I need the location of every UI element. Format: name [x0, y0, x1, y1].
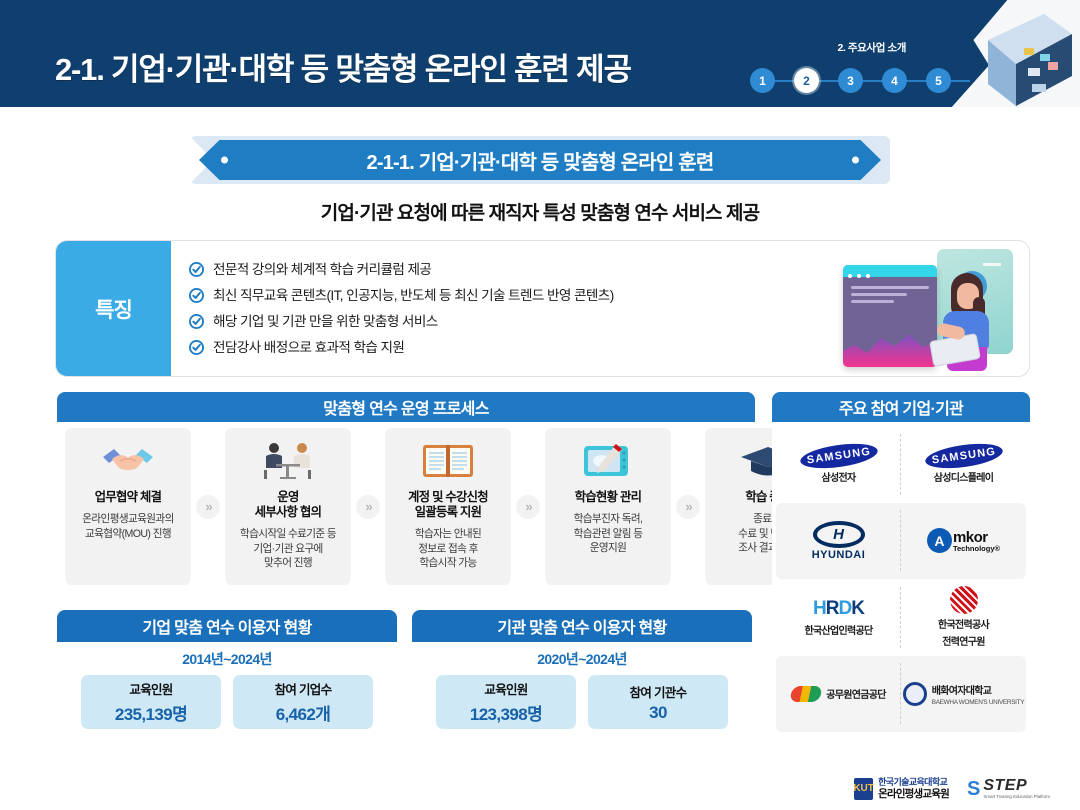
partner-name: 배화여자대학교	[932, 686, 992, 697]
meeting-icon	[258, 438, 318, 484]
stats-institution-title: 기관 맞춤 연수 이용자 현황	[497, 614, 666, 638]
hrdk-logo-icon: HRDK	[813, 598, 864, 620]
amkor-logo-icon: A mkor Technology®	[927, 528, 1000, 553]
process-step-title: 업무협약 체결	[95, 490, 161, 505]
process-step-desc: 학습부진자 독려,학습관련 알림 등운영지원	[574, 512, 643, 556]
handshake-icon	[100, 438, 156, 484]
kut-line1: 한국기술교육대학교	[878, 777, 949, 788]
feature-text: 해당 기업 및 기관 만을 위한 맞춤형 서비스	[213, 311, 438, 333]
partner-name: 공무원연금공단	[826, 686, 886, 701]
header-illustration	[950, 0, 1080, 107]
step-wordmark: STEP	[983, 778, 1050, 795]
ribbon-dot-right-icon	[852, 157, 859, 164]
partner-name: 한국전력공사	[938, 616, 989, 631]
isometric-screen-icon	[948, 2, 1078, 107]
features-tab: 특징	[56, 241, 171, 376]
features-illustration	[837, 247, 1015, 373]
kut-emblem-icon: KUT	[854, 778, 873, 800]
partner-sub: 전력연구원	[942, 633, 985, 648]
slide-root: 2-1. 기업·기관·대학 등 맞춤형 온라인 훈련 제공 2. 주요사업 소개…	[0, 0, 1080, 810]
features-list: 전문적 강의와 체계적 학습 커리큘럼 제공 최신 직무교육 콘텐츠(IT, 인…	[189, 259, 614, 363]
partner-sub: Technology®	[953, 545, 1000, 553]
partners-title: 주요 참여 기업·기관	[839, 395, 963, 419]
feature-text: 최신 직무교육 콘텐츠(IT, 인공지능, 반도체 등 최신 기술 트렌드 반영…	[213, 285, 614, 307]
stat-value: 235,139명	[115, 700, 187, 725]
partner-brand: HYUNDAI	[812, 549, 866, 561]
process-arrow-2: »	[351, 495, 385, 519]
section-nav-label: 2. 주요사업 소개	[837, 40, 906, 55]
step-mark-icon: S	[967, 779, 980, 799]
stat-value: 30	[649, 703, 667, 723]
check-circle-icon	[189, 288, 204, 303]
stat-value: 123,398명	[470, 700, 542, 725]
nav-step-1[interactable]: 1	[750, 68, 775, 93]
process-arrow-1: »	[191, 495, 225, 519]
feature-item: 최신 직무교육 콘텐츠(IT, 인공지능, 반도체 등 최신 기술 트렌드 반영…	[189, 285, 614, 311]
partner-name: 한국산업인력공단	[805, 622, 873, 637]
check-circle-icon	[189, 314, 204, 329]
stat-label: 교육인원	[129, 679, 172, 698]
partners-grid: SAMSUNG 삼성전자 SAMSUNG 삼성디스플레이 H HYUNDAI A…	[772, 422, 1030, 736]
stats-institution-card-trainees: 교육인원 123,398명	[436, 675, 576, 729]
process-step-title: 운영세부사항 협의	[255, 490, 321, 520]
stat-label: 참여 기업수	[275, 679, 332, 698]
process-title: 맞춤형 연수 운영 프로세스	[323, 395, 488, 419]
process-step-2: 운영세부사항 협의 학습시작일 수료기준 등기업·기관 요구에맞추어 진행	[225, 428, 351, 585]
process-step-desc: 학습자는 안내된정보로 접속 후학습시작 가능	[415, 527, 481, 571]
stat-label: 참여 기관수	[630, 682, 687, 701]
slide-subtitle: 기업·기관 요청에 따른 재직자 특성 맞춤형 연수 서비스 제공	[0, 198, 1080, 225]
stats-company-body: 2014년~2024년 교육인원 235,139명 참여 기업수 6,462개	[57, 642, 397, 736]
partner-amkor: A mkor Technology®	[901, 503, 1026, 580]
check-circle-icon	[189, 262, 204, 277]
stats-institution-header: 기관 맞춤 연수 이용자 현황	[412, 610, 752, 642]
nav-step-5[interactable]: 5	[926, 68, 951, 93]
section-nav-dots: 1 2 3 4 5	[750, 68, 951, 93]
features-tab-label: 특징	[95, 294, 132, 324]
process-step-desc: 온라인평생교육원과의교육협약(MOU) 진행	[82, 512, 173, 541]
tablet-pen-icon	[580, 438, 636, 484]
partner-baewha: 배화여자대학교 BAEWHA WOMEN'S UNIVERSITY	[901, 656, 1026, 733]
hyundai-logo-icon: H HYUNDAI	[812, 521, 866, 561]
partner-brand: mkor	[953, 530, 1000, 545]
feature-item: 전담강사 배정으로 효과적 학습 지원	[189, 337, 614, 363]
double-chevron-right-icon: »	[196, 495, 220, 519]
nav-step-4[interactable]: 4	[882, 68, 907, 93]
stat-label: 교육인원	[484, 679, 527, 698]
slide-header: 2-1. 기업·기관·대학 등 맞춤형 온라인 훈련 제공 2. 주요사업 소개…	[0, 0, 1080, 107]
step-tagline: Smart Training Education Platform	[983, 795, 1050, 800]
open-book-icon	[421, 438, 475, 484]
partner-name: 삼성디스플레이	[934, 469, 994, 484]
slide-footer: KUT 한국기술교육대학교 온라인평생교육원 S STEP Smart Trai…	[854, 777, 1050, 800]
feature-item: 해당 기업 및 기관 만을 위한 맞춤형 서비스	[189, 311, 614, 337]
analytics-window-icon	[843, 265, 937, 367]
baewha-logo-icon	[903, 682, 927, 706]
process-body: 업무협약 체결 온라인평생교육원과의교육협약(MOU) 진행 »	[57, 422, 755, 591]
stats-company-header: 기업 맞춤 연수 이용자 현황	[57, 610, 397, 642]
double-chevron-right-icon: »	[516, 495, 540, 519]
partner-sub: BAEWHA WOMEN'S UNIVERSITY	[932, 699, 1024, 706]
kut-line2: 온라인평생교육원	[878, 788, 949, 800]
gepco-logo-icon	[790, 686, 823, 702]
features-box: 특징 전문적 강의와 체계적 학습 커리큘럼 제공 최신 직무교육 콘텐츠(IT…	[55, 240, 1030, 377]
feature-item: 전문적 강의와 체계적 학습 커리큘럼 제공	[189, 259, 614, 285]
nav-step-2[interactable]: 2	[794, 68, 819, 93]
partner-kepco: 한국전력공사 전력연구원	[901, 579, 1026, 656]
process-step-1: 업무협약 체결 온라인평생교육원과의교육협약(MOU) 진행	[65, 428, 191, 585]
stats-company-period: 2014년~2024년	[182, 649, 272, 669]
kut-logo: KUT 한국기술교육대학교 온라인평생교육원	[854, 777, 949, 800]
process-step-desc: 학습시작일 수료기준 등기업·기관 요구에맞추어 진행	[240, 527, 336, 571]
process-arrow-4: »	[671, 495, 705, 519]
stats-institution-period: 2020년~2024년	[537, 649, 627, 669]
stat-value: 6,462개	[276, 700, 331, 725]
double-chevron-right-icon: »	[676, 495, 700, 519]
process-step-4: 학습현황 관리 학습부진자 독려,학습관련 알림 등운영지원	[545, 428, 671, 585]
process-header: 맞춤형 연수 운영 프로세스	[57, 392, 755, 422]
nav-step-3[interactable]: 3	[838, 68, 863, 93]
process-arrow-3: »	[511, 495, 545, 519]
partner-samsung-electronics: SAMSUNG 삼성전자	[776, 426, 901, 503]
process-step-3: 계정 및 수강신청일괄등록 지원 학습자는 안내된정보로 접속 후학습시작 가능	[385, 428, 511, 585]
stats-company-card-trainees: 교육인원 235,139명	[81, 675, 221, 729]
partners-header: 주요 참여 기업·기관	[772, 392, 1030, 422]
stats-institution-card-institutions: 참여 기관수 30	[588, 675, 728, 729]
partner-name: 삼성전자	[822, 469, 856, 484]
stats-institution-body: 2020년~2024년 교육인원 123,398명 참여 기관수 30	[412, 642, 752, 736]
partner-hrdk: HRDK 한국산업인력공단	[776, 579, 901, 656]
person-with-laptop-icon	[935, 273, 997, 371]
page-title: 2-1. 기업·기관·대학 등 맞춤형 온라인 훈련 제공	[55, 44, 631, 89]
samsung-logo-icon: SAMSUNG	[798, 439, 878, 472]
partner-hyundai: H HYUNDAI	[776, 503, 901, 580]
kepco-logo-icon	[950, 586, 978, 614]
double-chevron-right-icon: »	[356, 495, 380, 519]
step-logo: S STEP Smart Training Education Platform	[967, 778, 1050, 800]
stats-company-card-companies: 참여 기업수 6,462개	[233, 675, 373, 729]
section-ribbon: 2-1-1. 기업·기관·대학 등 맞춤형 온라인 훈련	[199, 140, 881, 180]
feature-text: 전담강사 배정으로 효과적 학습 지원	[213, 337, 404, 359]
check-circle-icon	[189, 340, 204, 355]
ribbon-title: 2-1-1. 기업·기관·대학 등 맞춤형 온라인 훈련	[367, 146, 714, 175]
partner-gepco: 공무원연금공단	[776, 656, 901, 733]
feature-text: 전문적 강의와 체계적 학습 커리큘럼 제공	[213, 259, 431, 281]
stats-company-title: 기업 맞춤 연수 이용자 현황	[142, 614, 311, 638]
process-step-title: 계정 및 수강신청일괄등록 지원	[408, 490, 488, 520]
process-step-title: 학습현황 관리	[575, 490, 641, 505]
ribbon-dot-left-icon	[221, 157, 228, 164]
partner-samsung-display: SAMSUNG 삼성디스플레이	[901, 426, 1026, 503]
samsung-logo-icon: SAMSUNG	[923, 439, 1003, 472]
